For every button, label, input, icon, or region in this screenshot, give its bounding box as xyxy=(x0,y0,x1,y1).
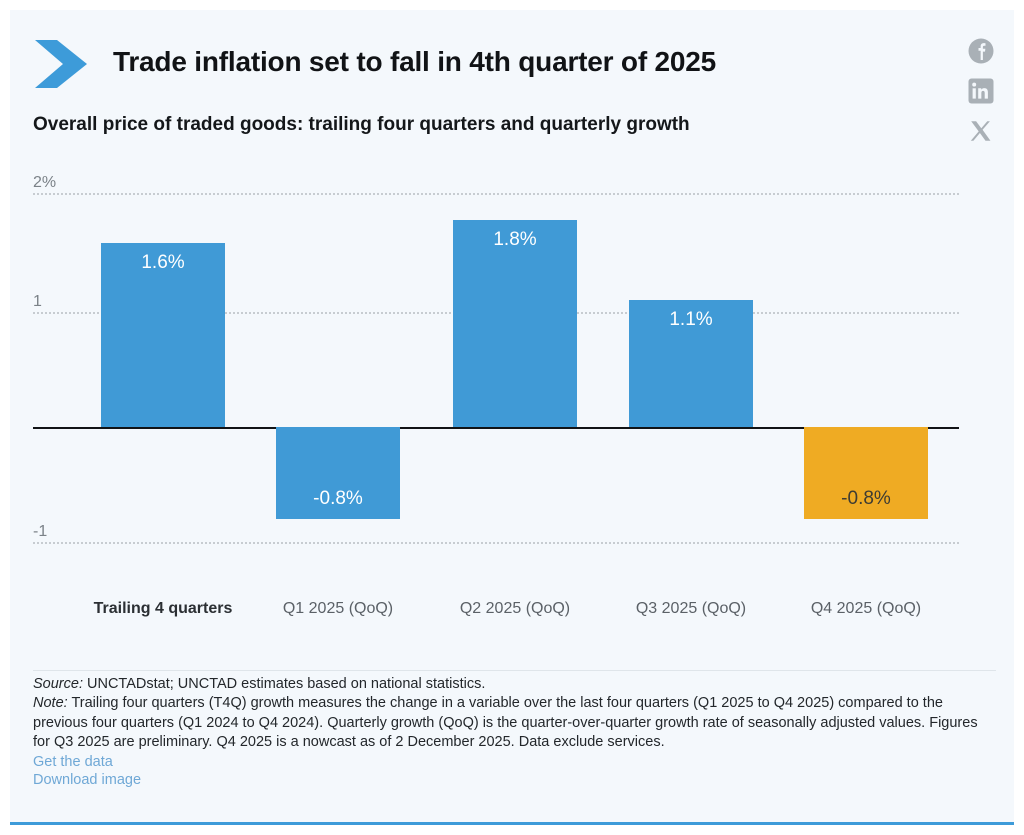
download-image-link[interactable]: Download image xyxy=(33,772,996,788)
bar-value-label: 1.6% xyxy=(101,252,225,274)
linkedin-icon[interactable] xyxy=(968,78,994,104)
gridline-2 xyxy=(33,193,959,195)
bar-value-label: 1.8% xyxy=(453,229,577,251)
chart-footer: Source: UNCTADstat; UNCTAD estimates bas… xyxy=(33,665,996,788)
source-label: Source: xyxy=(33,676,83,692)
bar-q3-2025-qoq[interactable]: 1.1% xyxy=(629,300,753,427)
x-label-q2-2025: Q2 2025 (QoQ) xyxy=(443,598,587,620)
x-label-q1-2025: Q1 2025 (QoQ) xyxy=(266,598,410,620)
bar-trailing-4-quarters[interactable]: 1.6% xyxy=(101,243,225,427)
note-line: Note: Trailing four quarters (T4Q) growt… xyxy=(33,694,996,752)
bar-value-label: -0.8% xyxy=(276,488,400,510)
bar-q4-2025-qoq[interactable]: -0.8% xyxy=(804,427,928,519)
note-text: Trailing four quarters (T4Q) growth meas… xyxy=(33,695,978,750)
get-the-data-link[interactable]: Get the data xyxy=(33,754,996,770)
source-line: Source: UNCTADstat; UNCTAD estimates bas… xyxy=(33,675,996,694)
blue-chevron-icon xyxy=(33,38,91,90)
y-tick-label-minus-1: -1 xyxy=(33,523,47,541)
y-tick-label-2: 2% xyxy=(33,174,56,192)
page-title: Trade inflation set to fall in 4th quart… xyxy=(113,46,716,78)
x-label-q3-2025: Q3 2025 (QoQ) xyxy=(619,598,763,620)
y-tick-label-1: 1 xyxy=(33,293,42,311)
chart-card: Trade inflation set to fall in 4th quart… xyxy=(10,10,1014,825)
chart-header: Trade inflation set to fall in 4th quart… xyxy=(10,10,1014,110)
social-share-group xyxy=(968,38,996,158)
bar-chart-plot: 2% 1 -1 1.6% -0.8% 1.8% 1.1% -0.8% xyxy=(10,160,1014,580)
bar-value-label: 1.1% xyxy=(629,309,753,331)
bar-q2-2025-qoq[interactable]: 1.8% xyxy=(453,220,577,427)
x-label-q4-2025: Q4 2025 (QoQ) xyxy=(794,598,938,620)
x-twitter-icon[interactable] xyxy=(968,118,994,144)
gridline-minus-1 xyxy=(33,542,959,544)
note-label: Note: xyxy=(33,695,68,711)
bar-value-label: -0.8% xyxy=(804,488,928,510)
facebook-icon[interactable] xyxy=(968,38,994,64)
chart-subtitle: Overall price of traded goods: trailing … xyxy=(33,114,690,136)
source-text: UNCTADstat; UNCTAD estimates based on na… xyxy=(83,676,485,692)
bar-q1-2025-qoq[interactable]: -0.8% xyxy=(276,427,400,519)
x-label-trailing-4-quarters: Trailing 4 quarters xyxy=(91,598,235,620)
x-axis-labels: Trailing 4 quarters Q1 2025 (QoQ) Q2 202… xyxy=(10,598,1014,658)
